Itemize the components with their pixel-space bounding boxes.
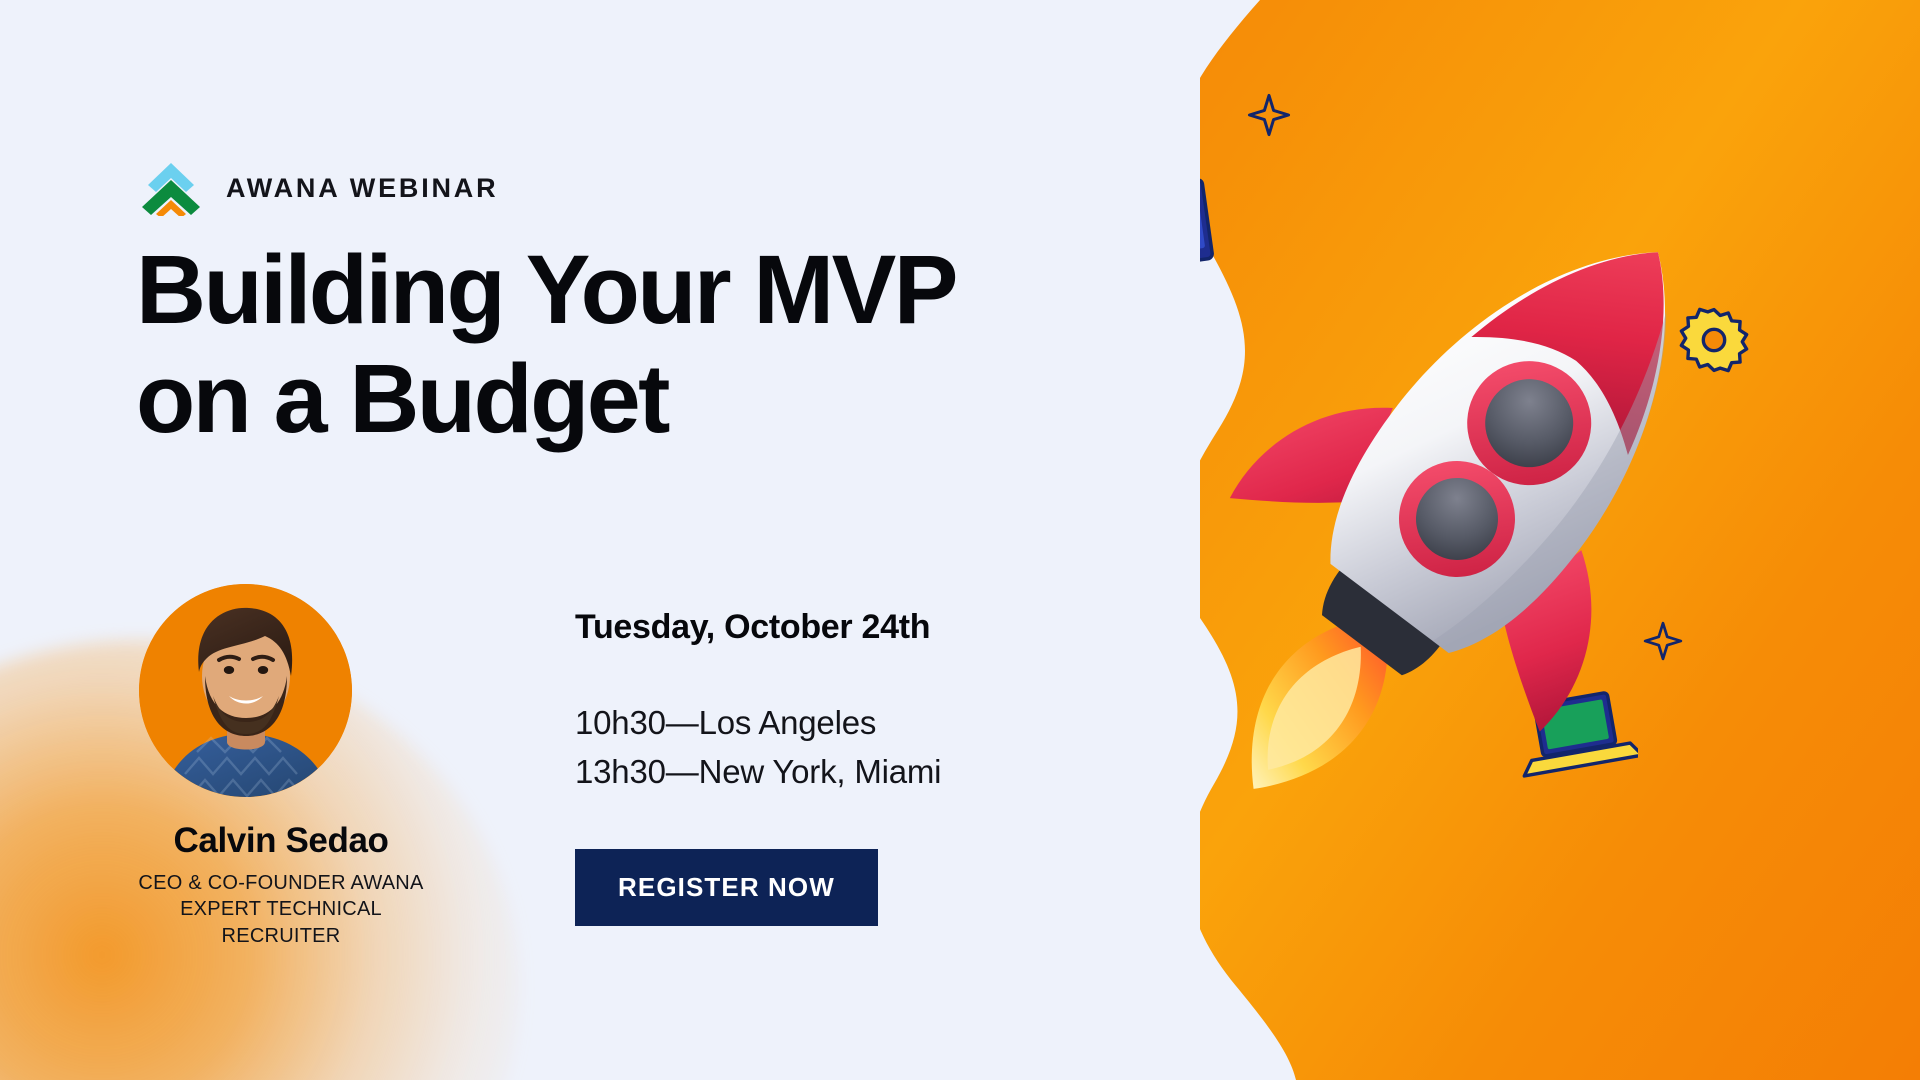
event-time-line-1: 10h30—Los Angeles — [575, 699, 941, 748]
speaker-block: Calvin Sedao CEO & CO-FOUNDER AWANA EXPE… — [136, 584, 466, 949]
avatar — [139, 584, 352, 797]
headline-line-2: on a Budget — [136, 345, 1096, 454]
rocket-3d-icon — [1140, 170, 1790, 860]
event-time-line-2: 13h30—New York, Miami — [575, 748, 941, 797]
brand-logo-text: AWANA WEBINAR — [226, 173, 498, 204]
page-title: Building Your MVP on a Budget — [136, 236, 1096, 453]
content-panel: AWANA WEBINAR Building Your MVP on a Bud… — [0, 0, 1200, 1080]
speaker-name: Calvin Sedao — [136, 821, 426, 861]
headline-line-1: Building Your MVP — [136, 236, 1096, 345]
sparkle-icon — [1246, 92, 1292, 138]
stacked-chevrons-logo-icon — [138, 160, 204, 216]
event-details: Tuesday, October 24th 10h30—Los Angeles … — [575, 608, 941, 926]
speaker-role-line-2: EXPERT TECHNICAL RECRUITER — [136, 896, 426, 949]
speaker-role-line-1: CEO & CO-FOUNDER AWANA — [136, 870, 426, 896]
speaker-portrait-icon — [139, 584, 352, 797]
event-date: Tuesday, October 24th — [575, 608, 941, 647]
brand-logo[interactable]: AWANA WEBINAR — [138, 160, 498, 216]
register-now-button[interactable]: REGISTER NOW — [575, 849, 878, 926]
event-times: 10h30—Los Angeles 13h30—New York, Miami — [575, 699, 941, 797]
illustration-panel: $ — [1140, 0, 1920, 1080]
